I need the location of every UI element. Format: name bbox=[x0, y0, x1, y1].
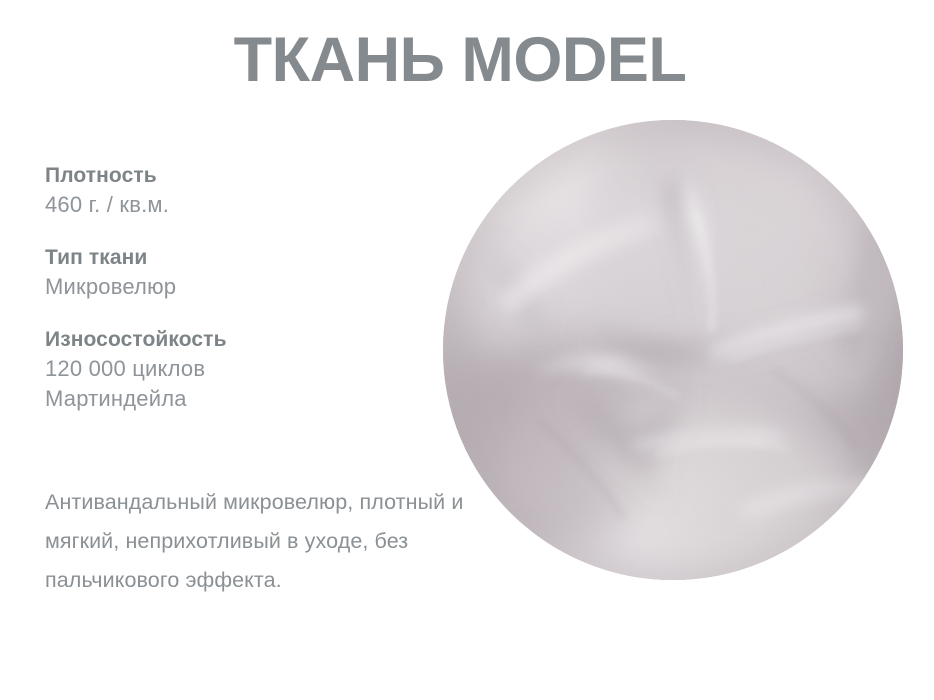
spec-list: Плотность 460 г. / кв.м. Тип ткани Микро… bbox=[45, 162, 445, 439]
fabric-photo-image bbox=[443, 120, 903, 580]
spec-label-density: Плотность bbox=[45, 162, 445, 190]
spec-label-fabric-type: Тип ткани bbox=[45, 244, 445, 272]
spec-value-density: 460 г. / кв.м. bbox=[45, 190, 445, 220]
page-title: ТКАНЬ MODEL bbox=[0, 26, 920, 94]
spec-item-density: Плотность 460 г. / кв.м. bbox=[45, 162, 445, 220]
spec-item-fabric-type: Тип ткани Микровелюр bbox=[45, 244, 445, 302]
fabric-photo bbox=[443, 120, 903, 580]
fabric-description: Антивандальный микровелюр, плотный и мяг… bbox=[45, 483, 465, 600]
spec-value-abrasion-resistance: 120 000 циклов Мартиндейла bbox=[45, 354, 295, 415]
spec-item-abrasion-resistance: Износостойкость 120 000 циклов Мартиндей… bbox=[45, 326, 445, 414]
spec-value-fabric-type: Микровелюр bbox=[45, 272, 445, 302]
fabric-spec-slide: ТКАНЬ MODEL Плотность 460 г. / кв.м. Тип… bbox=[0, 0, 934, 700]
spec-label-abrasion-resistance: Износостойкость bbox=[45, 326, 445, 354]
